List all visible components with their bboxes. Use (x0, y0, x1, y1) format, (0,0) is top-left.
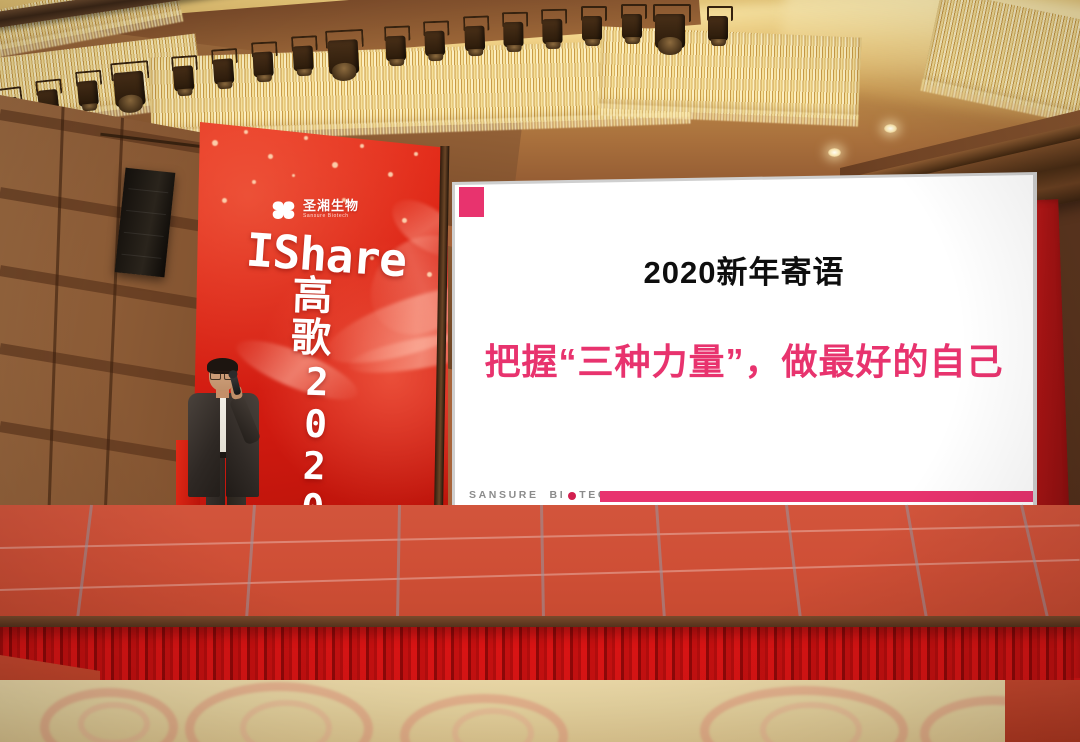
carpet-red-right (1005, 680, 1080, 742)
stage-photo-scene: 圣湘生物 Sansure Biotech IShare 高歌 2020 2020… (0, 0, 1080, 742)
slide-subtitle: 把握“三种力量”，做最好的自己 (455, 333, 1033, 385)
sansure-logo-cn: 圣湘生物 (303, 199, 359, 212)
slide-title: 2020新年寄语 (455, 247, 1033, 292)
slide-footer-bar (600, 491, 1033, 502)
sansure-logo-en: Sansure Biotech (303, 214, 359, 219)
slide-accent-square (459, 187, 484, 217)
presentation-slide: 2020新年寄语 把握“三种力量”，做最好的自己 SANSURE BI TECH (455, 175, 1033, 519)
sansure-s-mark-icon (270, 196, 297, 223)
downlight-icon (884, 124, 897, 133)
footer-brand-bi: BI (550, 489, 566, 501)
stage-pleated-skirt (0, 627, 1080, 683)
presenter-jacket-left (188, 393, 220, 497)
sansure-logo: 圣湘生物 Sansure Biotech (270, 194, 382, 224)
banner-vertical-cn: 高歌 (286, 273, 330, 358)
banner-vertical-year: 2020 (293, 359, 337, 528)
downlight-icon (828, 148, 841, 157)
slide-footer-brand: SANSURE BI TECH (469, 489, 618, 501)
biotech-dot-icon (568, 492, 576, 500)
footer-brand-sansure: SANSURE (469, 489, 539, 501)
ballroom-carpet (0, 680, 1080, 742)
